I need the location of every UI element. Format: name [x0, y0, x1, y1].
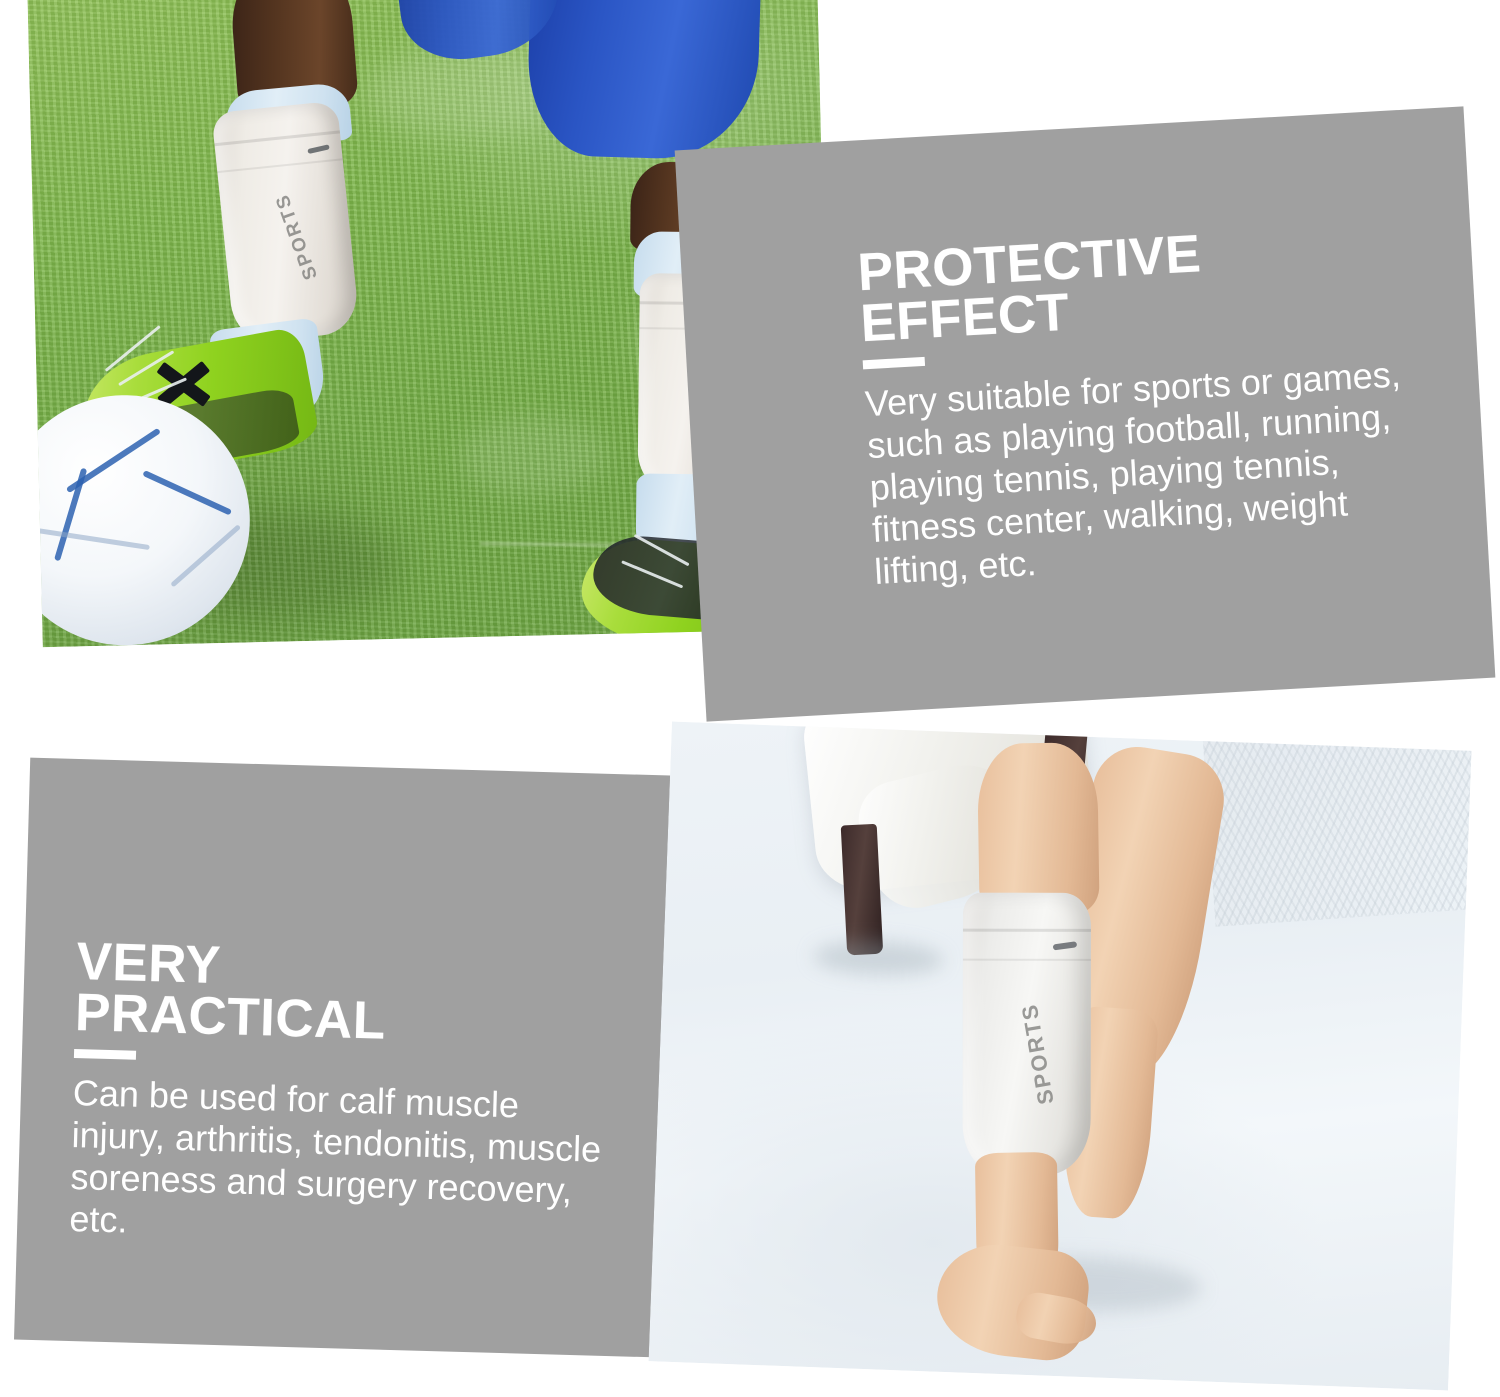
studio-photo: SPORTS [649, 722, 1472, 1391]
model-front-leg-upper [977, 742, 1100, 916]
panel-protective-effect: PROTECTIVE EFFECT Very suitable for spor… [675, 106, 1496, 721]
feature-collage: SPORTS SPORTS [0, 0, 1500, 1397]
chair-leg [841, 824, 884, 956]
calf-sleeve-left: SPORTS [211, 101, 360, 345]
floor-rug [1203, 722, 1472, 927]
panel-body-protective: Very suitable for sports or games, such … [864, 351, 1445, 593]
panel-title-rule [863, 357, 925, 369]
panel-protective-effect-content: PROTECTIVE EFFECT Very suitable for spor… [856, 217, 1444, 594]
panel-title-rule [74, 1049, 136, 1060]
panel-very-practical-content: VERY PRACTICAL Can be used for calf musc… [69, 937, 622, 1255]
calf-sleeve-studio: SPORTS [963, 893, 1091, 1175]
panel-body-practical: Can be used for calf muscle injury, arth… [69, 1072, 618, 1256]
